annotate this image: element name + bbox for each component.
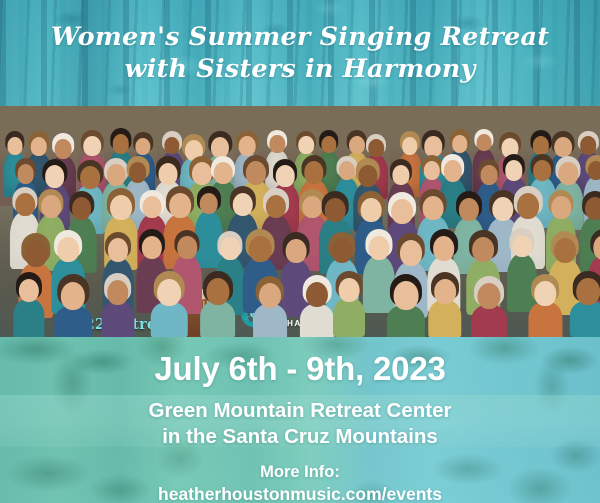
person-body xyxy=(570,301,600,337)
person-head xyxy=(393,165,410,185)
person-head xyxy=(129,162,147,183)
person-head xyxy=(232,193,252,217)
person-body xyxy=(387,305,425,337)
person-head xyxy=(321,136,336,154)
person-head xyxy=(478,283,501,310)
poster-title: Women's Summer Singing Retreat with Sist… xyxy=(0,0,600,106)
person-head xyxy=(459,198,479,221)
person xyxy=(204,274,231,336)
person-head xyxy=(517,193,539,219)
person-body xyxy=(200,301,236,337)
person-head xyxy=(41,195,61,218)
person-head xyxy=(473,237,495,262)
details-banner: July 6th - 9th, 2023 Green Mountain Retr… xyxy=(0,337,600,503)
person-head xyxy=(443,160,461,181)
venue-location: in the Santa Cruz Mountains xyxy=(162,424,438,450)
person xyxy=(432,275,457,337)
person-head xyxy=(285,239,306,263)
person-head xyxy=(177,236,196,259)
person-head xyxy=(306,282,328,308)
person-body xyxy=(54,306,91,337)
person-head xyxy=(339,278,360,302)
person-head xyxy=(199,193,218,215)
person-body xyxy=(333,298,365,337)
person-head xyxy=(259,283,281,309)
person-head xyxy=(349,136,365,155)
person-head xyxy=(433,236,455,261)
person-head xyxy=(402,137,418,155)
person-head xyxy=(361,198,382,222)
person-head xyxy=(512,235,532,258)
person-head xyxy=(576,278,600,305)
person-head xyxy=(588,161,600,180)
person-head xyxy=(368,236,389,260)
person-head xyxy=(505,160,522,180)
person-head xyxy=(246,161,266,184)
group-photo xyxy=(0,106,600,337)
person-head xyxy=(141,236,161,260)
person-head xyxy=(554,137,572,158)
person-head xyxy=(299,136,315,154)
more-info-url[interactable]: heatherhoustonmusic.com/events xyxy=(158,484,442,503)
person-head xyxy=(7,137,22,155)
person-head xyxy=(423,196,444,220)
person-body xyxy=(471,305,507,337)
person xyxy=(155,274,183,336)
person xyxy=(366,232,390,312)
person-body xyxy=(253,304,287,337)
person-head xyxy=(452,135,468,153)
person-head xyxy=(434,279,456,304)
person-head xyxy=(192,162,212,185)
person-head xyxy=(17,164,34,184)
person-head xyxy=(107,280,128,305)
person xyxy=(304,278,330,337)
person-body xyxy=(428,300,461,337)
title-line-2: with Sisters in Harmony xyxy=(124,54,475,84)
person-head xyxy=(113,134,129,153)
person-head xyxy=(211,137,229,158)
person xyxy=(533,277,558,337)
person-head xyxy=(477,134,492,151)
person-head xyxy=(303,196,323,219)
person-head xyxy=(585,197,600,220)
person-head xyxy=(249,236,271,262)
person xyxy=(59,277,87,337)
person-head xyxy=(72,197,92,220)
event-poster: Women's Summer Singing Retreat with Sist… xyxy=(0,0,600,503)
person-body xyxy=(13,299,44,337)
person-head xyxy=(159,163,178,185)
person-head xyxy=(400,240,422,266)
person xyxy=(391,277,420,337)
person xyxy=(511,231,534,311)
person-head xyxy=(143,196,162,218)
person-head xyxy=(110,195,132,220)
person-head xyxy=(492,197,513,222)
more-info-label: More Info: xyxy=(260,462,340,483)
person-head xyxy=(534,160,552,181)
person-head xyxy=(25,240,48,266)
person-head xyxy=(169,193,191,218)
person-head xyxy=(358,165,377,187)
person-body xyxy=(300,304,334,337)
person-head xyxy=(84,136,102,156)
crowd-of-people xyxy=(0,106,600,337)
person-head xyxy=(276,165,295,187)
person xyxy=(257,279,283,337)
person-head xyxy=(581,136,597,154)
person-head xyxy=(18,279,38,303)
person xyxy=(105,276,130,337)
event-dates: July 6th - 9th, 2023 xyxy=(154,351,445,387)
person-body xyxy=(529,302,562,337)
person-head xyxy=(425,136,442,156)
person-head xyxy=(554,238,576,264)
person-head xyxy=(369,139,385,157)
person-head xyxy=(135,138,150,156)
person-head xyxy=(325,198,346,222)
person-head xyxy=(221,237,241,260)
person xyxy=(198,189,220,267)
person-head xyxy=(535,281,556,306)
person-head xyxy=(270,135,285,153)
person-head xyxy=(107,164,125,185)
person-head xyxy=(266,195,286,218)
person xyxy=(575,274,600,336)
person-head xyxy=(206,278,229,305)
person-head xyxy=(31,137,48,156)
person-head xyxy=(551,196,571,219)
person-head xyxy=(164,137,179,155)
person-head xyxy=(393,281,418,310)
person xyxy=(337,274,361,336)
title-line-1: Women's Summer Singing Retreat xyxy=(51,22,549,52)
person-head xyxy=(58,237,80,262)
person-head xyxy=(45,165,65,188)
person-head xyxy=(214,162,233,184)
person-head xyxy=(80,166,100,189)
person-head xyxy=(533,136,549,155)
person-head xyxy=(331,238,352,263)
person xyxy=(17,275,41,337)
person-head xyxy=(15,193,35,216)
person-head xyxy=(304,161,323,184)
person xyxy=(476,279,503,337)
person-head xyxy=(108,238,128,261)
person-head xyxy=(423,161,439,180)
person-head xyxy=(391,199,413,224)
person-head xyxy=(55,139,72,159)
person-head xyxy=(239,136,256,155)
person-body xyxy=(101,301,134,337)
person-head xyxy=(559,162,578,185)
person-head xyxy=(480,165,497,185)
event-details: July 6th - 9th, 2023 Green Mountain Retr… xyxy=(0,337,600,503)
person-head xyxy=(61,282,85,310)
person-body xyxy=(151,302,188,337)
venue-name: Green Mountain Retreat Center xyxy=(149,398,452,424)
person-head xyxy=(157,279,181,307)
person-head xyxy=(338,161,354,180)
